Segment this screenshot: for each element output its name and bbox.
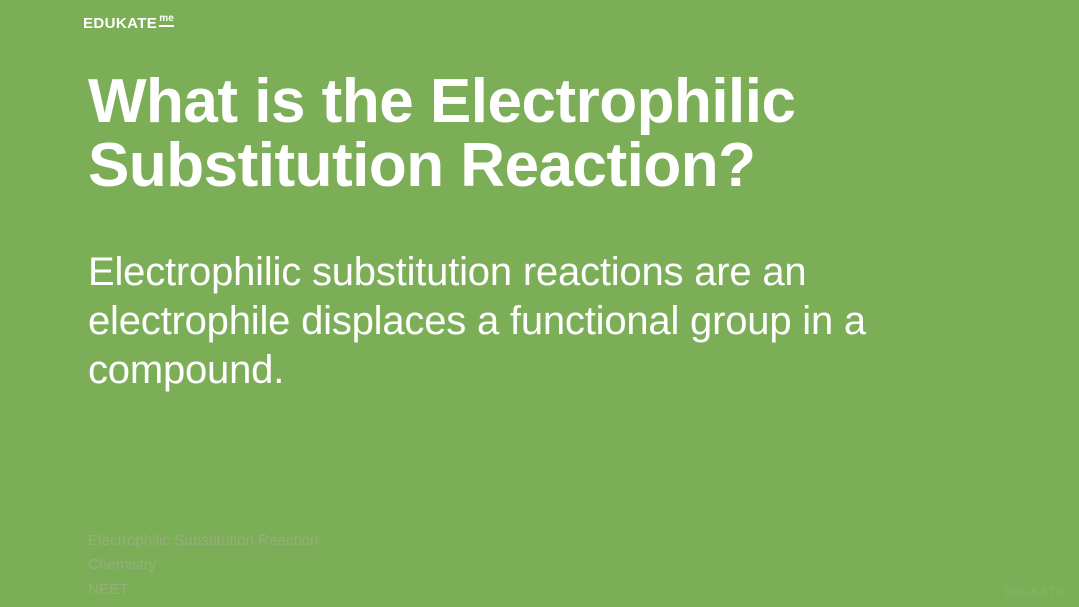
edukate-logo[interactable]: EDUKATE me [83,16,174,31]
slide-footer: Electrophilic Substitution Reaction Chem… [88,529,318,602]
footer-exam: NEET [88,578,318,602]
footer-subject: Chemistry [88,553,318,577]
slide: EDUKATE me What is the Electrophilic Sub… [0,0,1079,607]
logo-wordmark: EDUKATE [83,16,157,31]
corner-watermark: EDUKATE [1004,585,1065,599]
footer-topic: Electrophilic Substitution Reaction [88,529,318,553]
logo-underline-rule [159,25,174,27]
slide-body-text: Electrophilic substitution reactions are… [88,248,968,396]
logo-superscript: me [159,14,174,27]
logo-superscript-text: me [159,14,174,24]
slide-title: What is the Electrophilic Substitution R… [88,70,988,199]
